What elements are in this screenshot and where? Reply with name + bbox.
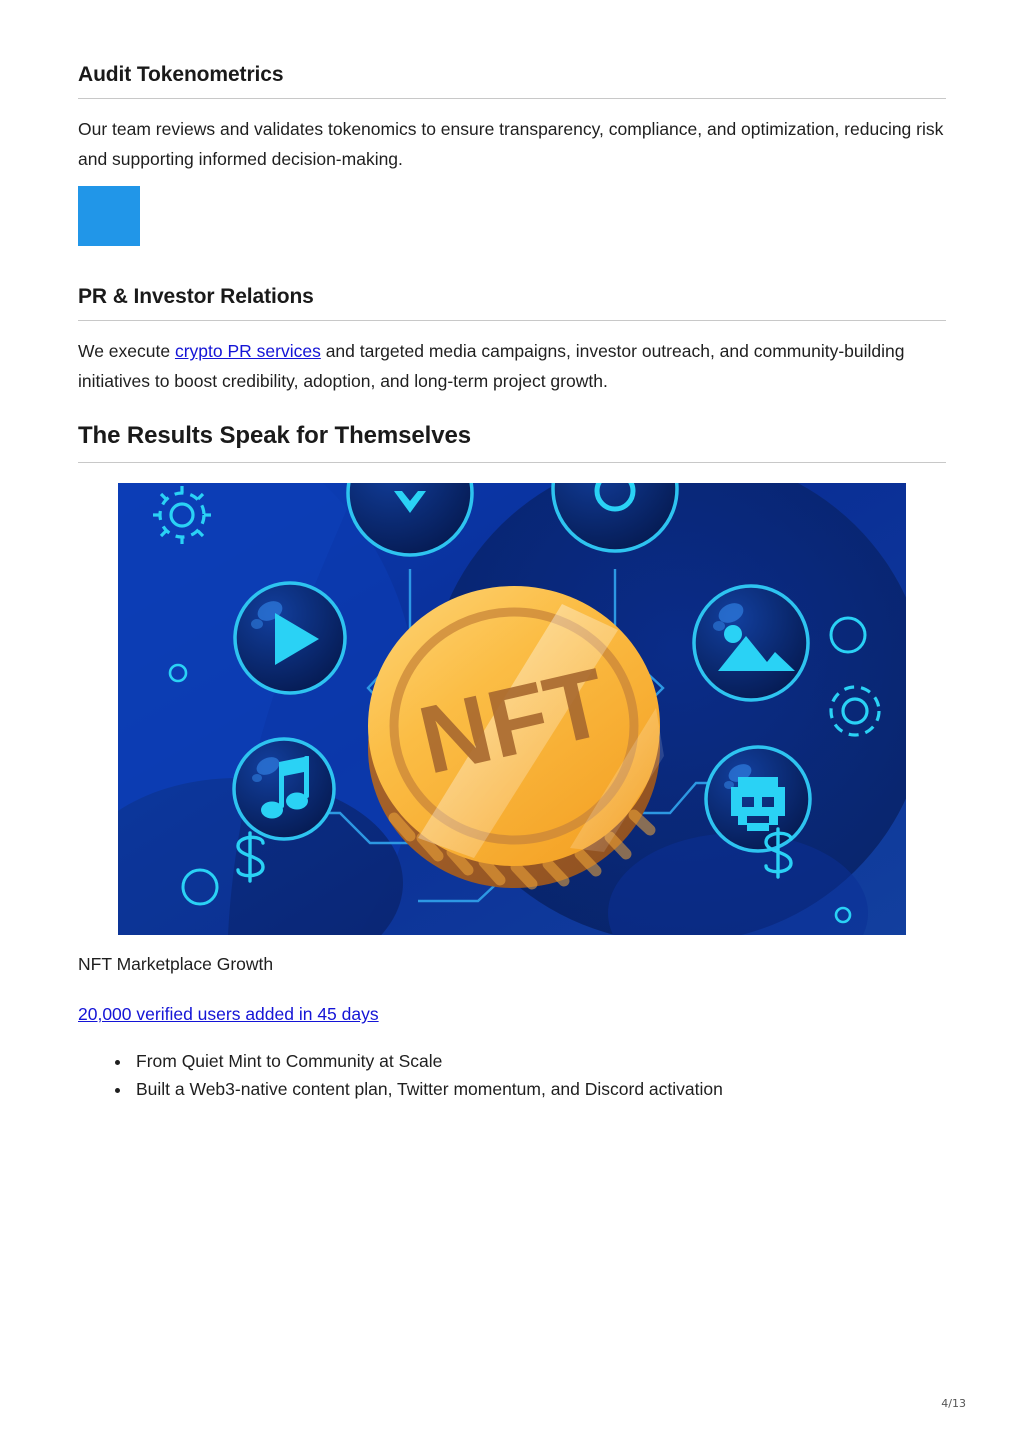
hero-image-wrapper: NFT — [118, 483, 906, 935]
page-number: 4/13 — [941, 1397, 966, 1410]
nft-hero-illustration: NFT — [118, 483, 906, 935]
verified-users-link[interactable]: 20,000 verified users added in 45 days — [78, 1001, 379, 1027]
spacer — [78, 977, 946, 1001]
heading-divider — [78, 320, 946, 321]
paragraph-pr-investor-relations: We execute crypto PR services and target… — [78, 336, 946, 396]
paragraph-audit-tokenometrics: Our team reviews and validates tokenomic… — [78, 114, 946, 174]
page-content: Audit Tokenometrics Our team reviews and… — [78, 62, 946, 1103]
caption-title: NFT Marketplace Growth — [78, 951, 946, 977]
broken-image-placeholder — [78, 186, 140, 246]
spacer — [78, 935, 946, 951]
heading-pr-investor-relations: PR & Investor Relations — [78, 284, 946, 309]
document-page: Audit Tokenometrics Our team reviews and… — [0, 0, 1024, 1448]
spacer — [78, 1027, 946, 1047]
heading-divider — [78, 462, 946, 463]
paragraph-text-lead: We execute — [78, 341, 175, 361]
spacer — [78, 246, 946, 284]
list-item: From Quiet Mint to Community at Scale — [132, 1047, 946, 1075]
bullet-list: From Quiet Mint to Community at Scale Bu… — [78, 1047, 946, 1103]
heading-audit-tokenometrics: Audit Tokenometrics — [78, 62, 946, 87]
crypto-pr-services-link[interactable]: crypto PR services — [175, 341, 321, 361]
spacer — [78, 396, 946, 422]
heading-results: The Results Speak for Themselves — [78, 422, 946, 451]
list-item: Built a Web3-native content plan, Twitte… — [132, 1075, 946, 1103]
heading-divider — [78, 98, 946, 99]
